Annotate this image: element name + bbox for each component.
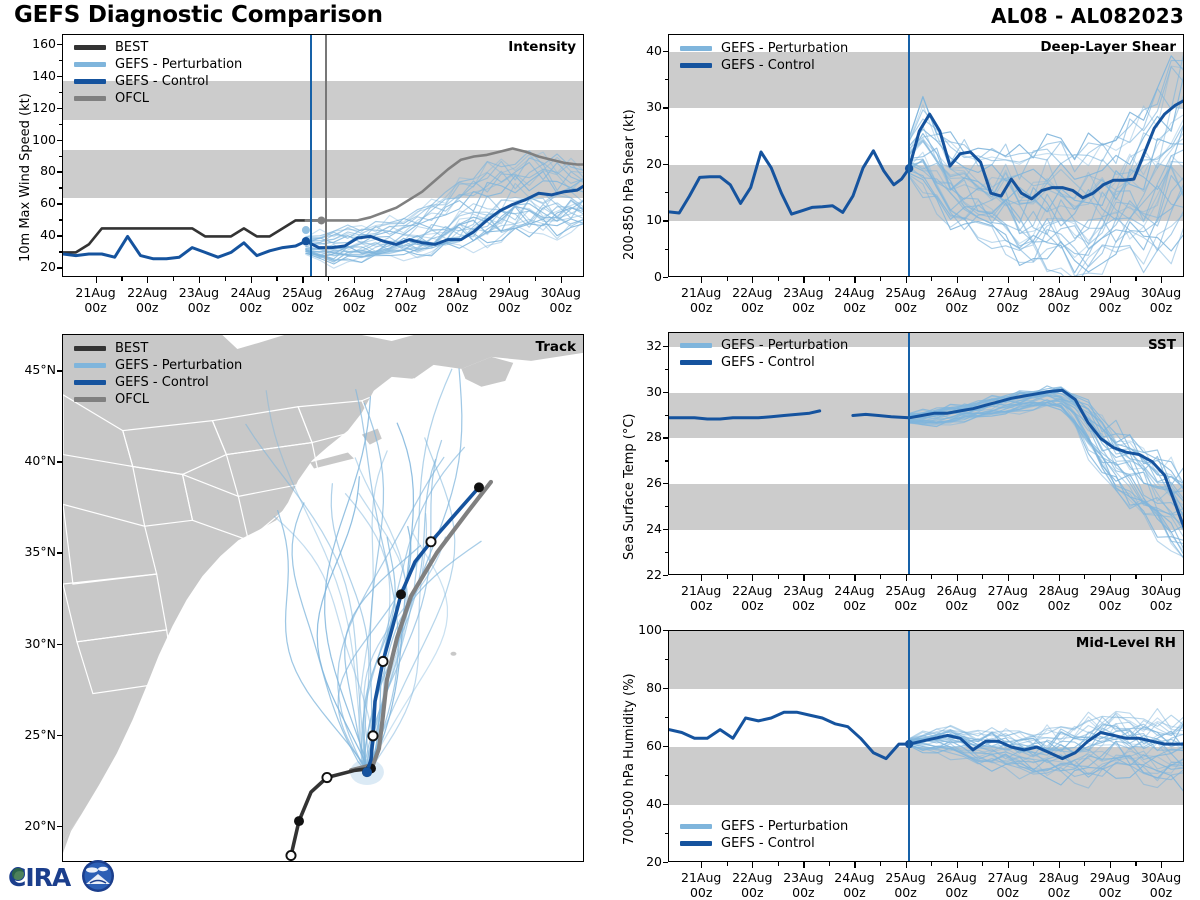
legend-item-perturbation: GEFS - Perturbation [74,357,242,374]
legend-swatch-ofcl [74,397,106,402]
x-tick-mark [803,277,804,283]
sst-panel-title: SST [1148,337,1176,353]
intensity-panel-title: Intensity [508,39,576,55]
y-tick-minor [665,249,668,250]
legend-label-control: GEFS - Control [115,375,209,390]
x-tick-minor [328,277,329,281]
y-tick-mark [663,529,668,530]
x-tick-minor [778,862,779,866]
x-tick-minor [778,277,779,281]
shear-legend: GEFS - PerturbationGEFS - Control [680,40,848,74]
legend-label-ofcl: OFCL [115,91,149,106]
x-tick-minor [982,277,983,281]
x-tick-mark [1008,575,1009,581]
x-tick-mark [509,277,510,283]
legend-label-control: GEFS - Control [721,836,815,851]
y-tick-label: 20 [16,259,56,274]
x-tick-mark [302,277,303,283]
legend-label-perturbation: GEFS - Perturbation [721,819,848,834]
latitude-tick-label: 35°N [2,544,56,559]
y-tick-mark [663,630,668,631]
legend-swatch-perturbation [74,62,106,67]
legend-swatch-control [680,63,712,68]
x-tick-mark [906,277,907,283]
y-tick-label: 24 [622,521,662,536]
legend-label-control: GEFS - Control [721,355,815,370]
legend-swatch-perturbation [74,363,106,368]
y-tick-label: 30 [622,384,662,399]
x-tick-mark [1008,277,1009,283]
x-tick-minor [880,575,881,579]
y-tick-label: 28 [622,429,662,444]
x-tick-mark [1110,575,1111,581]
x-tick-mark [854,862,855,868]
x-tick-mark [701,277,702,283]
legend-label-perturbation: GEFS - Perturbation [721,338,848,353]
y-tick-minor [59,92,62,93]
x-tick-mark [251,277,252,283]
legend-item-control: GEFS - Control [74,374,242,391]
y-tick-mark [663,220,668,221]
x-tick-mark [1110,862,1111,868]
track-panel: Track [62,334,584,862]
y-tick-label: 26 [622,475,662,490]
y-tick-label: 20 [622,156,662,171]
y-tick-minor [665,775,668,776]
track-panel-title: Track [536,339,576,355]
x-tick-mark [957,862,958,868]
legend-label-control: GEFS - Control [115,74,209,89]
legend-label-control: GEFS - Control [721,58,815,73]
x-tick-minor [225,277,226,281]
x-tick-mark [957,575,958,581]
legend-item-best: BEST [74,39,242,56]
track-plot-area: Track [62,334,584,862]
page-title: GEFS Diagnostic Comparison [14,2,383,28]
legend-swatch-control [680,360,712,365]
x-tick-minor [535,277,536,281]
x-tick-label: 30Aug00z [1129,285,1193,315]
x-tick-minor [380,277,381,281]
y-tick-minor [665,415,668,416]
legend-item-ofcl: OFCL [74,90,242,107]
y-tick-label: 120 [16,100,56,115]
y-tick-mark [57,171,62,172]
x-tick-minor [1084,575,1085,579]
y-tick-label: 100 [16,132,56,147]
y-tick-mark [663,575,668,576]
y-tick-minor [665,659,668,660]
y-tick-minor [665,369,668,370]
latitude-tick-label: 25°N [2,727,56,742]
x-tick-mark [457,277,458,283]
y-tick-label: 30 [622,99,662,114]
y-tick-label: 40 [622,796,662,811]
x-tick-mark [701,575,702,581]
x-tick-mark [1059,277,1060,283]
y-tick-minor [59,60,62,61]
x-tick-minor [727,575,728,579]
y-tick-label: 60 [622,738,662,753]
legend-item-perturbation: GEFS - Perturbation [680,40,848,57]
x-tick-mark [752,862,753,868]
y-tick-mark [663,746,668,747]
legend-swatch-ofcl [74,96,106,101]
rh-analysis-time-line [908,631,910,861]
x-tick-mark [199,277,200,283]
legend-swatch-perturbation [680,46,712,51]
x-tick-mark [1008,862,1009,868]
y-tick-mark [57,108,62,109]
x-tick-mark [854,575,855,581]
x-tick-minor [931,862,932,866]
x-tick-mark [147,277,148,283]
x-tick-minor [1033,575,1034,579]
y-tick-minor [665,717,668,718]
legend-swatch-control [680,841,712,846]
x-tick-mark [1161,277,1162,283]
y-tick-label: 22 [622,567,662,582]
legend-label-perturbation: GEFS - Perturbation [115,358,242,373]
x-tick-mark [1059,575,1060,581]
x-tick-minor [778,575,779,579]
x-tick-minor [1084,277,1085,281]
y-tick-minor [665,833,668,834]
y-tick-mark [663,483,668,484]
y-tick-mark [663,437,668,438]
x-tick-minor [829,575,830,579]
x-tick-minor [880,862,881,866]
legend-swatch-perturbation [680,824,712,829]
latitude-tick-label: 40°N [2,453,56,468]
latitude-tick-mark [57,370,62,371]
x-tick-mark [561,277,562,283]
intensity-legend: BESTGEFS - PerturbationGEFS - ControlOFC… [74,39,242,107]
x-tick-mark [803,575,804,581]
y-tick-minor [59,251,62,252]
track-map-layer [63,335,583,861]
x-tick-minor [727,277,728,281]
y-tick-mark [57,44,62,45]
legend-label-perturbation: GEFS - Perturbation [721,41,848,56]
x-tick-mark [1161,575,1162,581]
x-tick-minor [173,277,174,281]
shear-panel-title: Deep-Layer Shear [1040,39,1176,55]
y-tick-mark [663,164,668,165]
y-tick-mark [57,140,62,141]
sst-analysis-time-line [908,333,910,574]
legend-item-control: GEFS - Control [74,73,242,90]
x-tick-minor [829,277,830,281]
legend-item-control: GEFS - Control [680,57,848,74]
legend-label-perturbation: GEFS - Perturbation [115,57,242,72]
y-tick-mark [57,203,62,204]
legend-label-best: BEST [115,341,148,356]
x-tick-mark [406,277,407,283]
x-tick-mark [96,277,97,283]
y-tick-label: 60 [16,195,56,210]
y-tick-mark [663,107,668,108]
y-tick-minor [665,79,668,80]
legend-item-perturbation: GEFS - Perturbation [680,818,848,835]
x-tick-mark [1059,862,1060,868]
legend-swatch-perturbation [680,343,712,348]
y-tick-label: 0 [622,269,662,284]
legend-swatch-control [74,380,106,385]
latitude-tick-label: 45°N [2,362,56,377]
x-tick-minor [982,862,983,866]
x-tick-mark [906,862,907,868]
shear-y-axis-label: 200-850 hPa Shear (kt) [622,109,637,260]
latitude-tick-mark [57,826,62,827]
y-tick-minor [665,136,668,137]
latitude-tick-mark [57,461,62,462]
x-tick-label: 30Aug00z [529,285,593,315]
x-tick-mark [1110,277,1111,283]
y-tick-label: 100 [622,622,662,637]
y-tick-label: 140 [16,68,56,83]
y-tick-mark [663,804,668,805]
latitude-tick-label: 20°N [2,818,56,833]
y-tick-label: 10 [622,212,662,227]
analysis-time-line [310,35,312,276]
legend-item-best: BEST [74,340,242,357]
x-tick-minor [1033,862,1034,866]
track-legend: BESTGEFS - PerturbationGEFS - ControlOFC… [74,340,242,408]
y-tick-mark [663,688,668,689]
legend-item-ofcl: OFCL [74,391,242,408]
x-tick-minor [276,277,277,281]
y-tick-mark [663,277,668,278]
y-tick-minor [665,192,668,193]
rh-legend: GEFS - PerturbationGEFS - Control [680,818,848,852]
x-tick-mark [854,277,855,283]
legend-label-best: BEST [115,40,148,55]
x-tick-minor [1135,277,1136,281]
ofcl-time-line [325,35,327,276]
latitude-tick-mark [57,735,62,736]
x-tick-mark [1161,862,1162,868]
latitude-tick-label: 30°N [2,636,56,651]
y-tick-minor [665,506,668,507]
legend-swatch-best [74,346,106,351]
legend-item-perturbation: GEFS - Perturbation [74,56,242,73]
legend-label-ofcl: OFCL [115,392,149,407]
y-tick-minor [59,187,62,188]
x-tick-label: 30Aug00z [1129,870,1193,900]
x-tick-minor [1033,277,1034,281]
x-tick-minor [483,277,484,281]
x-tick-mark [906,575,907,581]
y-tick-minor [59,156,62,157]
cira-logo: CIRA [6,856,118,896]
x-tick-minor [1135,862,1136,866]
y-tick-minor [665,460,668,461]
x-tick-minor [1135,575,1136,579]
y-tick-mark [663,346,668,347]
y-tick-mark [57,235,62,236]
y-tick-mark [663,862,668,863]
legend-item-control: GEFS - Control [680,354,848,371]
sst-legend: GEFS - PerturbationGEFS - Control [680,337,848,371]
x-tick-minor [931,575,932,579]
x-tick-label: 30Aug00z [1129,583,1193,613]
x-tick-mark [957,277,958,283]
storm-identifier: AL08 - AL082023 [991,4,1184,28]
y-tick-mark [57,267,62,268]
legend-swatch-control [74,79,106,84]
legend-item-perturbation: GEFS - Perturbation [680,337,848,354]
x-tick-mark [354,277,355,283]
shear-analysis-time-line [908,35,910,276]
x-tick-minor [432,277,433,281]
x-tick-mark [701,862,702,868]
rh-panel-title: Mid-Level RH [1076,635,1176,651]
latitude-tick-mark [57,552,62,553]
x-tick-mark [752,277,753,283]
x-tick-minor [880,277,881,281]
x-tick-minor [931,277,932,281]
y-tick-mark [663,392,668,393]
y-tick-label: 160 [16,36,56,51]
y-tick-label: 32 [622,338,662,353]
y-tick-label: 40 [16,227,56,242]
x-tick-minor [829,862,830,866]
y-tick-mark [57,76,62,77]
y-tick-label: 80 [622,680,662,695]
y-tick-label: 20 [622,854,662,869]
x-tick-minor [1084,862,1085,866]
latitude-tick-mark [57,644,62,645]
y-tick-minor [665,552,668,553]
y-tick-minor [59,124,62,125]
legend-item-control: GEFS - Control [680,835,848,852]
y-tick-minor [59,219,62,220]
x-tick-minor [982,575,983,579]
rh-y-axis-label: 700-500 hPa Humidity (%) [622,673,637,845]
x-tick-minor [727,862,728,866]
x-tick-minor [121,277,122,281]
x-tick-mark [803,862,804,868]
y-tick-label: 80 [16,163,56,178]
y-tick-mark [663,51,668,52]
x-tick-mark [752,575,753,581]
legend-swatch-best [74,45,106,50]
y-tick-label: 40 [622,43,662,58]
